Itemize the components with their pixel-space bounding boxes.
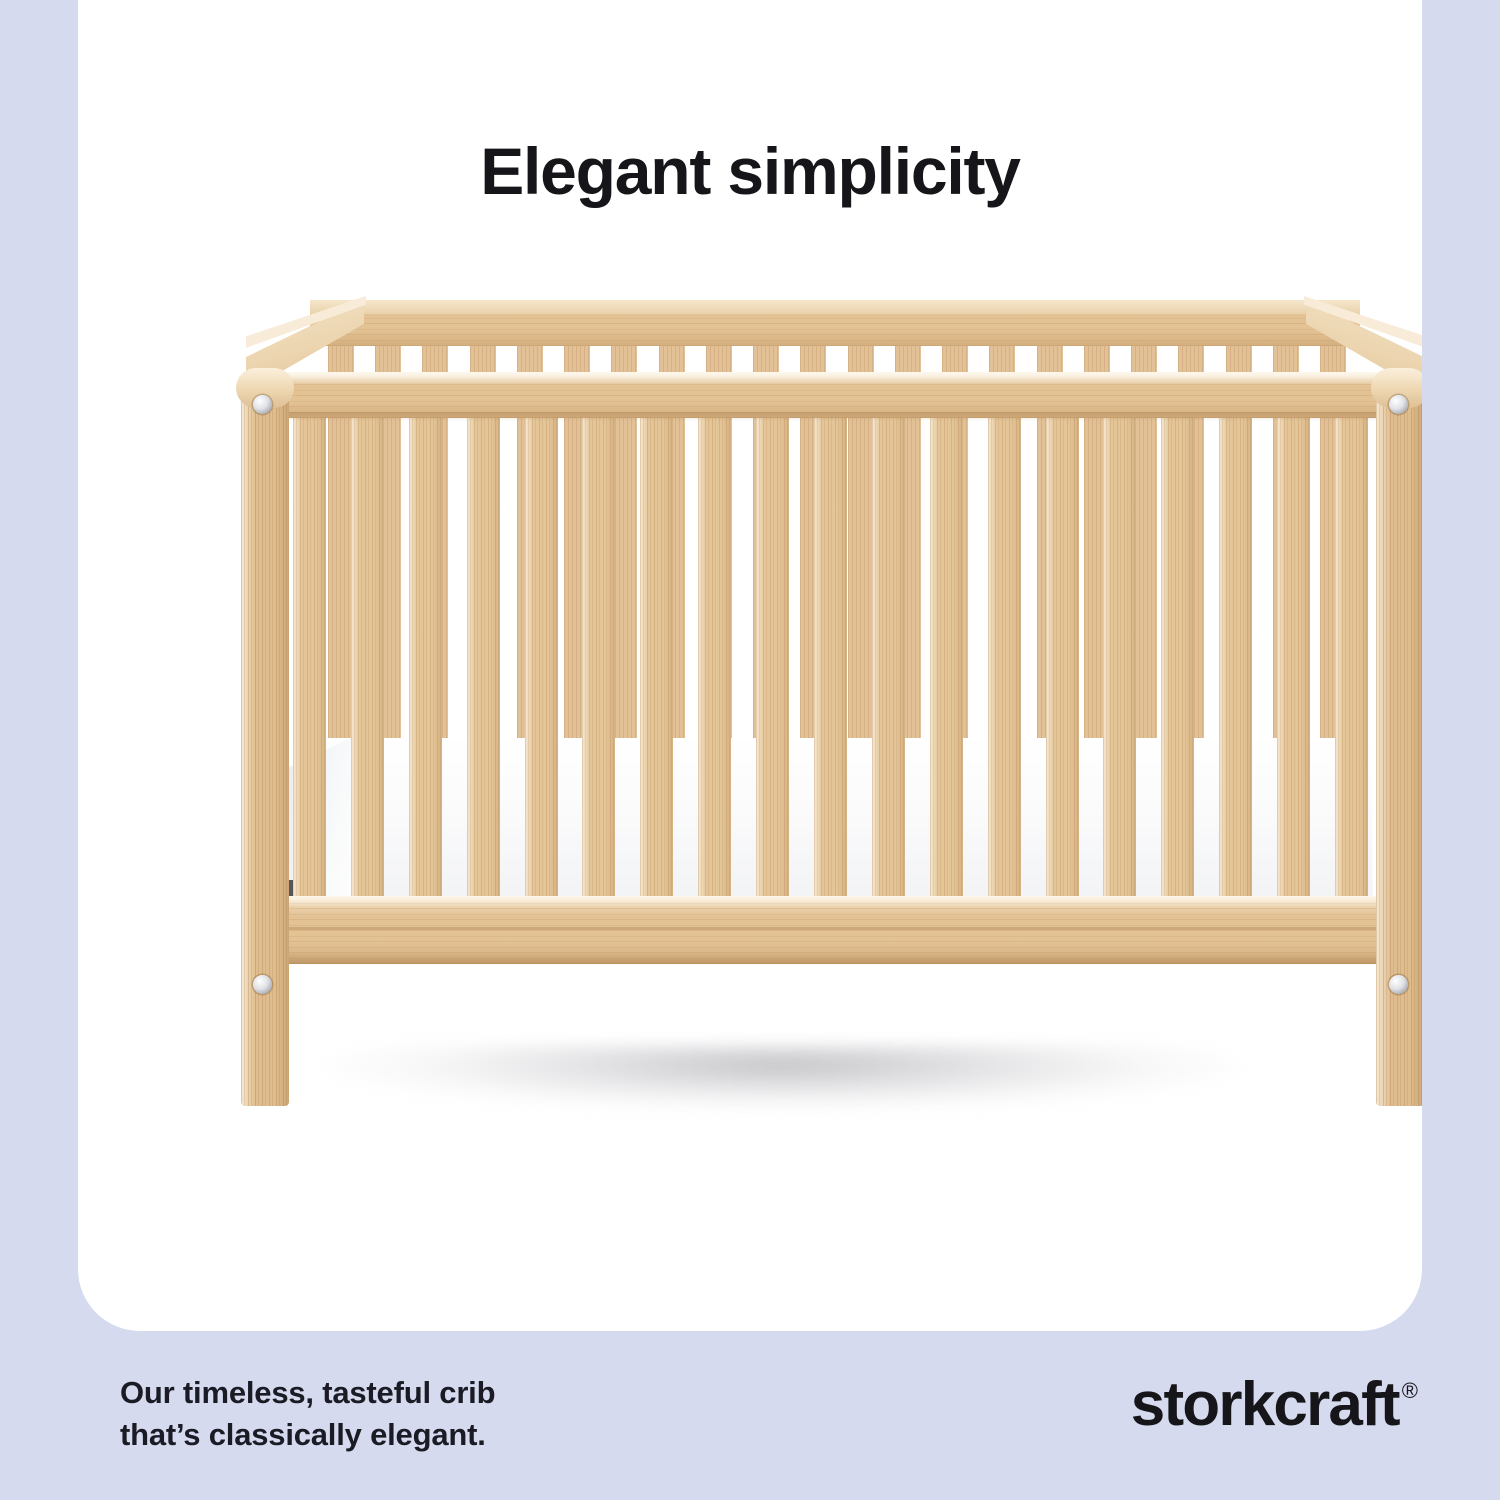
crib-front-slat (1046, 418, 1079, 896)
crib-front-top-rail-highlight (241, 372, 1422, 385)
crib-front-slat (1219, 418, 1252, 896)
product-image-stage (78, 0, 1422, 1331)
registered-trademark-icon: ® (1402, 1380, 1418, 1402)
crib-front-slat (351, 418, 384, 896)
crib-bottom-rail-shadow (278, 952, 1388, 964)
crib-corner-post-left (241, 380, 289, 1106)
crib-bottom-rail-highlight (278, 896, 1388, 907)
crib-back-top-rail-face (310, 300, 1360, 314)
brand-logo: storkcraft ® (1131, 1374, 1418, 1436)
crib-bottom-rail-groove (278, 927, 1388, 930)
crib-product-image (78, 0, 1422, 1331)
crib-front-slat (467, 418, 500, 896)
crib-front-slat (814, 418, 847, 896)
crib-corner-post-right (1376, 380, 1422, 1106)
crib-front-slat (872, 418, 905, 896)
crib-front-slat (988, 418, 1021, 896)
crib-front-slat (698, 418, 731, 896)
product-card: Elegant simplicity (78, 0, 1422, 1331)
crib-front-slat (1161, 418, 1194, 896)
crib-front-slat (1103, 418, 1136, 896)
brand-logo-text: storkcraft (1131, 1374, 1399, 1436)
product-caption: Our timeless, tasteful crib that’s class… (120, 1372, 495, 1455)
crib-front-slat (756, 418, 789, 896)
crib-front-slat (640, 418, 673, 896)
screw-cover-icon (1389, 975, 1408, 994)
crib-front-slat (409, 418, 442, 896)
screw-cover-icon (253, 975, 272, 994)
crib-front-slat (525, 418, 558, 896)
crib-front-slat (582, 418, 615, 896)
crib-front-slat (930, 418, 963, 896)
crib-front-slat (1335, 418, 1368, 896)
crib-front-slat (1277, 418, 1310, 896)
screw-cover-icon (1389, 395, 1408, 414)
caption-line-1: Our timeless, tasteful crib (120, 1372, 495, 1414)
crib-front-top-rail-shadow (268, 412, 1398, 421)
crib-front-slat (293, 418, 326, 896)
screw-cover-icon (253, 395, 272, 414)
caption-line-2: that’s classically elegant. (120, 1414, 495, 1456)
